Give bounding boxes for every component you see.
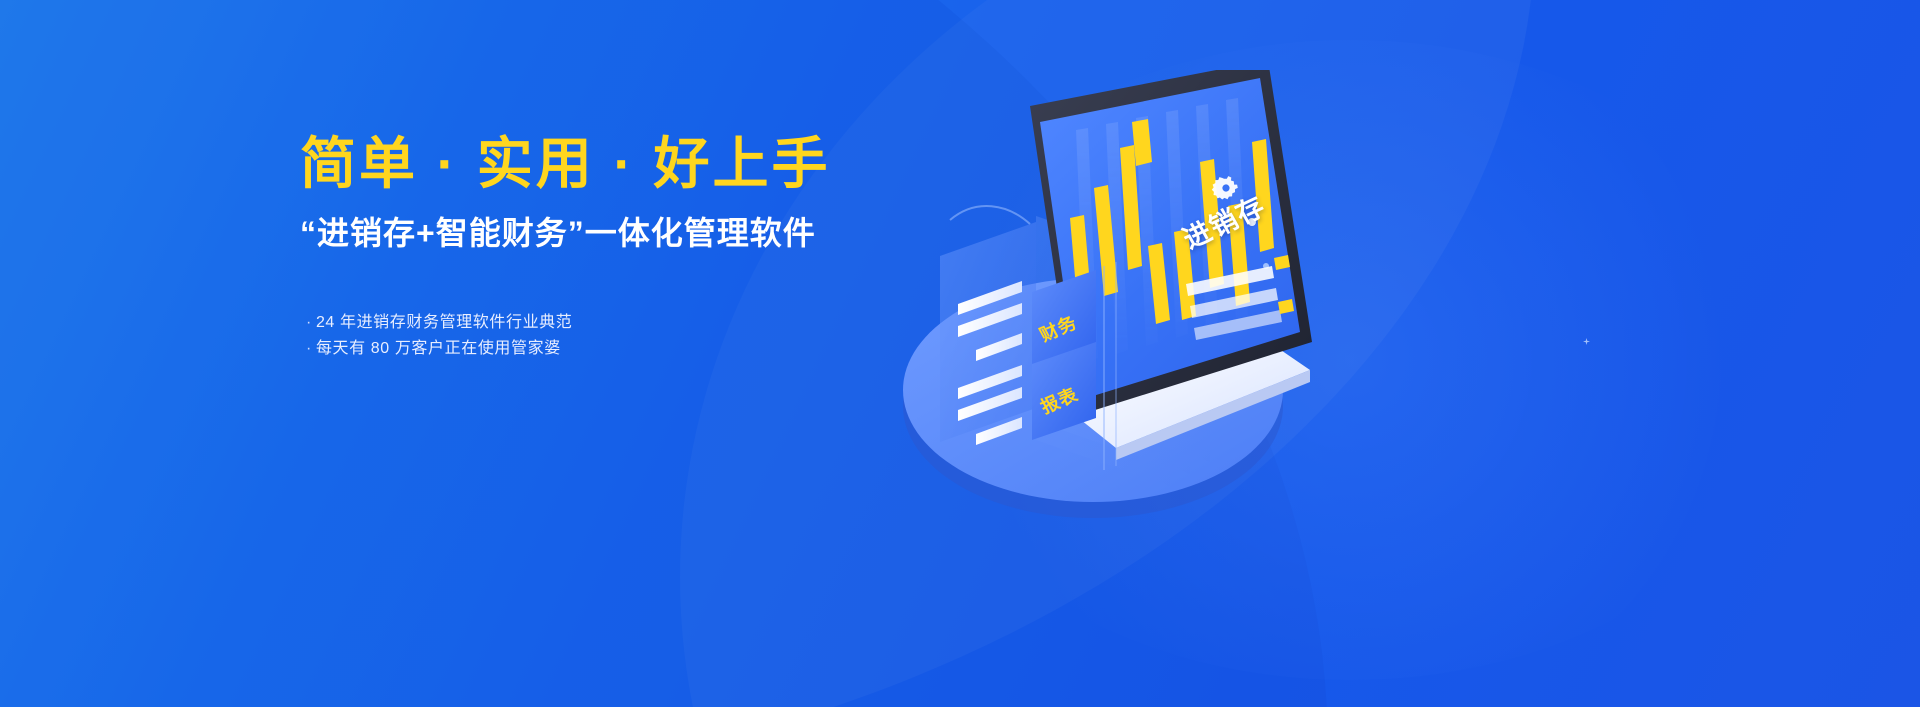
list-item-label: 每天有 80 万客户正在使用管家婆 [316, 340, 561, 357]
curve-icon [950, 206, 1030, 224]
list-item-label: 24 年进销存财务管理软件行业典范 [316, 314, 572, 331]
bullet-dot-icon: · [306, 340, 312, 357]
left-info-panel [940, 222, 1036, 445]
hero-banner: 简单 · 实用 · 好上手 “进销存+智能财务”一体化管理软件 ·24 年进销存… [0, 0, 1920, 707]
bullet-dot-icon: · [306, 314, 312, 331]
isometric-illustration: 进销存 财务 报表 [880, 70, 1340, 630]
illustration-svg [880, 70, 1340, 630]
sparkle-icon [1583, 338, 1590, 345]
dot-icon [1248, 218, 1256, 226]
